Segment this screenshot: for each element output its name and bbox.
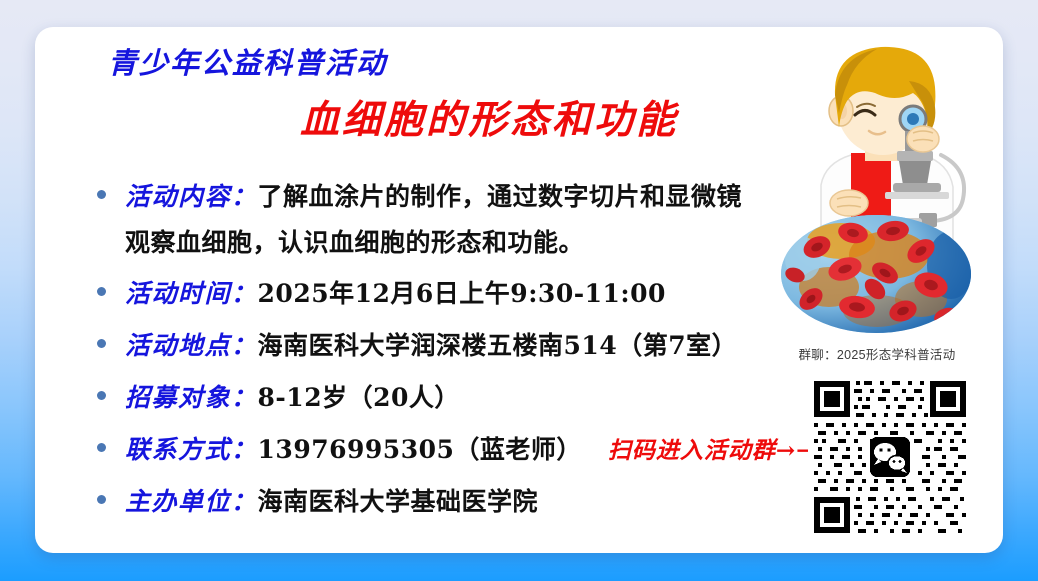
activity-content-separator: ： [231,182,258,211]
target-audience-line: 招募对象：8-12岁（20人） [125,375,789,421]
text-column: 青少年公益科普活动 血细胞的形态和功能 活动内容：了解血涂片的制作，通过数字切片… [35,27,795,553]
poster-subtitle: 青少年公益科普活动 [108,46,387,80]
activity-location-separator: ： [231,331,258,360]
contact-value: 13976995305（蓝老师） [258,435,582,464]
qr-caption: 群聊：2025形态学科普活动 [763,344,991,363]
list-item-contact: 联系方式：13976995305（蓝老师）扫码进入活动群→→ [87,427,789,473]
bullet-dot-icon [97,190,106,199]
bullet-dot-icon [97,495,106,504]
activity-content-line: 活动内容：了解血涂片的制作，通过数字切片和显微镜 [125,174,789,220]
activity-content-label: 活动内容 [125,182,231,211]
poster-card: 青少年公益科普活动 血细胞的形态和功能 活动内容：了解血涂片的制作，通过数字切片… [35,27,1003,553]
contact-separator: ： [231,435,258,464]
organizer-separator: ： [231,487,258,516]
list-item-activity-content: 活动内容：了解血涂片的制作，通过数字切片和显微镜 观察血细胞，认识血细胞的形态和… [87,174,789,265]
activity-location-value: 海南医科大学润深楼五楼南514（第7室） [258,331,738,360]
list-item-activity-location: 活动地点：海南医科大学润深楼五楼南514（第7室） [87,323,789,369]
activity-time-separator: ： [231,279,258,308]
contact-label: 联系方式 [125,435,231,464]
boy-using-microscope-illustration [773,35,995,240]
media-column: 群聊：2025形态学科普活动 [763,27,1003,553]
list-item-activity-time: 活动时间：2025年12月6日上午9:30-11:00 [87,271,789,317]
contact-line: 联系方式：13976995305（蓝老师）扫码进入活动群→→ [125,427,789,473]
activity-time-label: 活动时间 [125,279,231,308]
red-blood-cells-image [781,215,971,333]
activity-content-value: 了解血涂片的制作，通过数字切片和显微镜 [258,182,743,211]
wechat-group-qr-code[interactable] [808,375,972,539]
organizer-value: 海南医科大学基础医学院 [258,487,539,516]
activity-location-label: 活动地点 [125,331,231,360]
bullet-dot-icon [97,443,106,452]
organizer-line: 主办单位：海南医科大学基础医学院 [125,479,789,525]
target-audience-label: 招募对象 [125,383,231,412]
bullet-dot-icon [97,287,106,296]
activity-location-line: 活动地点：海南医科大学润深楼五楼南514（第7室） [125,323,789,369]
list-item-target-audience: 招募对象：8-12岁（20人） [87,375,789,421]
poster-title: 血细胞的形态和功能 [300,97,678,143]
bullet-dot-icon [97,391,106,400]
activity-time-value: 2025年12月6日上午9:30-11:00 [258,279,666,308]
activity-content-value-line2: 观察血细胞，认识血细胞的形态和功能。 [125,220,789,265]
activity-time-line: 活动时间：2025年12月6日上午9:30-11:00 [125,271,789,317]
organizer-label: 主办单位 [125,487,231,516]
target-audience-value: 8-12岁（20人） [258,383,460,412]
detail-list: 活动内容：了解血涂片的制作，通过数字切片和显微镜 观察血细胞，认识血细胞的形态和… [87,174,789,531]
list-item-organizer: 主办单位：海南医科大学基础医学院 [87,479,789,525]
bullet-dot-icon [97,339,106,348]
target-audience-separator: ： [231,383,258,412]
